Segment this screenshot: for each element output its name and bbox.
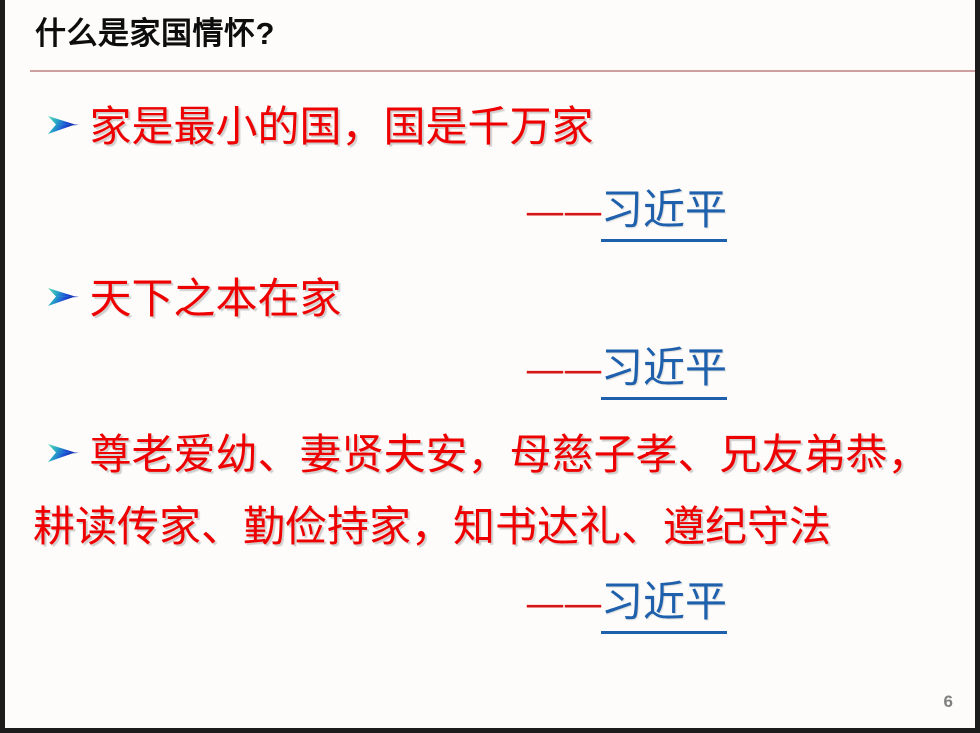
attribution-name: 习近平 (601, 182, 727, 242)
title-divider-rule (30, 70, 975, 72)
attribution-name: 习近平 (601, 340, 727, 400)
attribution-3: ——习近平 (525, 574, 727, 634)
attribution-name: 习近平 (601, 574, 727, 634)
arrow-bullet-icon (45, 110, 83, 140)
slide-canvas: 什么是家国情怀? (0, 0, 980, 733)
bullet-item-2: 天下之本在家 (45, 268, 341, 330)
bullet-3-text-line-2: 耕读传家、勤俭持家，知书达礼、遵纪守法 (33, 496, 831, 558)
arrow-bullet-icon (45, 438, 83, 468)
attribution-dash: —— (525, 342, 601, 398)
title-block: 什么是家国情怀? (5, 14, 975, 54)
bullet-2-text: 天下之本在家 (89, 268, 341, 330)
bullet-item-3-continuation: 耕读传家、勤俭持家，知书达礼、遵纪守法 (33, 496, 831, 558)
attribution-dash: —— (525, 576, 601, 632)
arrow-bullet-icon (45, 282, 83, 312)
page-title: 什么是家国情怀? (5, 14, 975, 54)
bullet-1-text: 家是最小的国，国是千万家 (89, 96, 593, 158)
page-number: 6 (944, 692, 953, 712)
bullet-item-1: 家是最小的国，国是千万家 (45, 96, 593, 158)
bullet-3-text-line-1: 尊老爱幼、妻贤夫安，母慈子孝、兄友弟恭， (89, 424, 929, 486)
attribution-1: ——习近平 (525, 182, 727, 242)
bullet-item-3: 尊老爱幼、妻贤夫安，母慈子孝、兄友弟恭， (45, 424, 929, 486)
attribution-dash: —— (525, 184, 601, 240)
attribution-2: ——习近平 (525, 340, 727, 400)
